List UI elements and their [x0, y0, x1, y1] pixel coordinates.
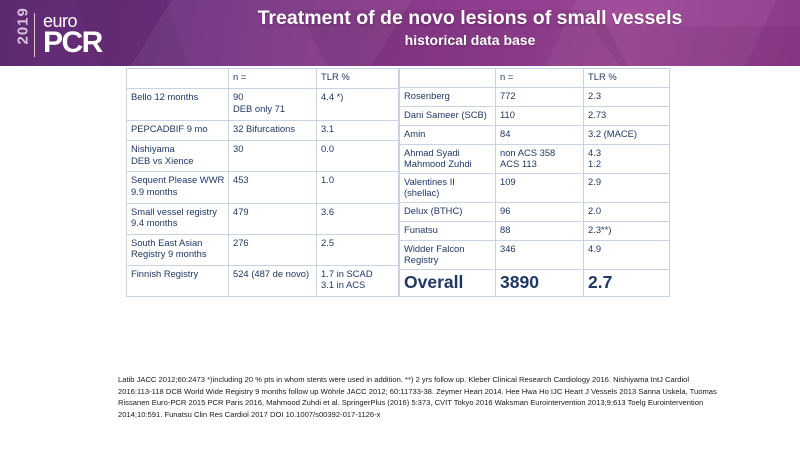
cell-overall-label: Overall: [400, 269, 496, 296]
cell-study-name: Rosenberg: [400, 88, 496, 107]
cell-study-name: Amin: [400, 126, 496, 145]
cell-study-name: Small vessel registry9.4 months: [127, 203, 229, 234]
cell-study-name: Finnish Registry: [127, 265, 229, 296]
cell-study-name: Valentines II (shellac): [400, 173, 496, 202]
table-header-row: n =TLR %: [127, 69, 399, 89]
cell-tlr-value: 2.73: [584, 107, 670, 126]
cell-n-value: 84: [496, 126, 584, 145]
table-row: Widder Falcon Registry3464.9: [400, 240, 670, 269]
logo-pcr-text: PCR: [43, 29, 102, 57]
cell-overall-n: 3890: [496, 269, 584, 296]
cell-study-name: PEPCADBIF 9 mo: [127, 120, 229, 140]
cell-tlr-value: 2.3: [584, 88, 670, 107]
cell-tlr-value: 3.2 (MACE): [584, 126, 670, 145]
cell-study-name: NishiyamaDEB vs Xience: [127, 141, 229, 172]
cell-n-value: 90DEB only 71: [229, 89, 317, 120]
cell-n-value: non ACS 358ACS 113: [496, 145, 584, 174]
tables-container: n =TLR %Bello 12 months90DEB only 714.4 …: [126, 68, 668, 297]
cell-n-value: 88: [496, 221, 584, 240]
cell-n-value: 524 (487 de novo): [229, 265, 317, 296]
cell-n-value: 30: [229, 141, 317, 172]
cell-study-name: South East Asian Registry 9 months: [127, 234, 229, 265]
table-row: South East Asian Registry 9 months2762.5: [127, 234, 399, 265]
logo-wordmark: euro PCR: [43, 13, 102, 57]
cell-study-name: Ahmad Syadi Mahmood Zuhdi: [400, 145, 496, 174]
cell-tlr-value: 0.0: [317, 141, 399, 172]
left-data-table: n =TLR %Bello 12 months90DEB only 714.4 …: [126, 68, 399, 297]
table-row: Finnish Registry524 (487 de novo)1.7 in …: [127, 265, 399, 296]
column-header-study: [127, 69, 229, 89]
column-header-study: [400, 69, 496, 88]
table-overall-row: Overall38902.7: [400, 269, 670, 296]
table-row: Small vessel registry9.4 months4793.6: [127, 203, 399, 234]
cell-tlr-value: 1.0: [317, 172, 399, 203]
cell-n-value: 96: [496, 202, 584, 221]
header-banner: 2019 euro PCR Treatment of de novo lesio…: [0, 0, 800, 66]
cell-tlr-value: 2.9: [584, 173, 670, 202]
cell-tlr-value: 2.0: [584, 202, 670, 221]
europcr-logo: 2019 euro PCR: [14, 9, 134, 61]
table-row: NishiyamaDEB vs Xience300.0: [127, 141, 399, 172]
slide-title: Treatment of de novo lesions of small ve…: [150, 8, 790, 30]
cell-n-value: 453: [229, 172, 317, 203]
table-row: Funatsu882.3**): [400, 221, 670, 240]
column-header-tlr: TLR %: [317, 69, 399, 89]
cell-tlr-value: 3.6: [317, 203, 399, 234]
cell-tlr-value: 2.5: [317, 234, 399, 265]
title-block: Treatment of de novo lesions of small ve…: [150, 8, 790, 49]
cell-n-value: 109: [496, 173, 584, 202]
cell-tlr-value: 3.1: [317, 120, 399, 140]
cell-n-value: 110: [496, 107, 584, 126]
cell-study-name: Funatsu: [400, 221, 496, 240]
cell-n-value: 479: [229, 203, 317, 234]
cell-study-name: Bello 12 months: [127, 89, 229, 120]
cell-study-name: Widder Falcon Registry: [400, 240, 496, 269]
column-header-tlr: TLR %: [584, 69, 670, 88]
table-row: Delux (BTHC)962.0: [400, 202, 670, 221]
table-row: Bello 12 months90DEB only 714.4 *): [127, 89, 399, 120]
table-header-row: n =TLR %: [400, 69, 670, 88]
right-data-table: n =TLR %Rosenberg7722.3Dani Sameer (SCB)…: [399, 68, 670, 297]
table-row: Valentines II (shellac)1092.9: [400, 173, 670, 202]
cell-study-name: Sequent Please WWR9.9 months: [127, 172, 229, 203]
cell-tlr-value: 4.31.2: [584, 145, 670, 174]
cell-tlr-value: 1.7 in SCAD3.1 in ACS: [317, 265, 399, 296]
table-row: Dani Sameer (SCB)1102.73: [400, 107, 670, 126]
cell-n-value: 32 Bifurcations: [229, 120, 317, 140]
cell-tlr-value: 4.9: [584, 240, 670, 269]
cell-study-name: Dani Sameer (SCB): [400, 107, 496, 126]
table-row: Rosenberg7722.3: [400, 88, 670, 107]
cell-n-value: 276: [229, 234, 317, 265]
logo-year-label: 2019: [15, 26, 32, 44]
table-row: Ahmad Syadi Mahmood Zuhdinon ACS 358ACS …: [400, 145, 670, 174]
cell-n-value: 346: [496, 240, 584, 269]
table-row: PEPCADBIF 9 mo32 Bifurcations3.1: [127, 120, 399, 140]
cell-n-value: 772: [496, 88, 584, 107]
column-header-n: n =: [496, 69, 584, 88]
table-row: Amin843.2 (MACE): [400, 126, 670, 145]
table-row: Sequent Please WWR9.9 months4531.0: [127, 172, 399, 203]
cell-tlr-value: 4.4 *): [317, 89, 399, 120]
cell-overall-tlr: 2.7: [584, 269, 670, 296]
logo-divider: [34, 13, 35, 57]
cell-study-name: Delux (BTHC): [400, 202, 496, 221]
column-header-n: n =: [229, 69, 317, 89]
references-footnote: Latib JACC 2012;60:2473 *)including 20 %…: [118, 374, 718, 420]
slide-subtitle: historical data base: [150, 32, 790, 49]
cell-tlr-value: 2.3**): [584, 221, 670, 240]
